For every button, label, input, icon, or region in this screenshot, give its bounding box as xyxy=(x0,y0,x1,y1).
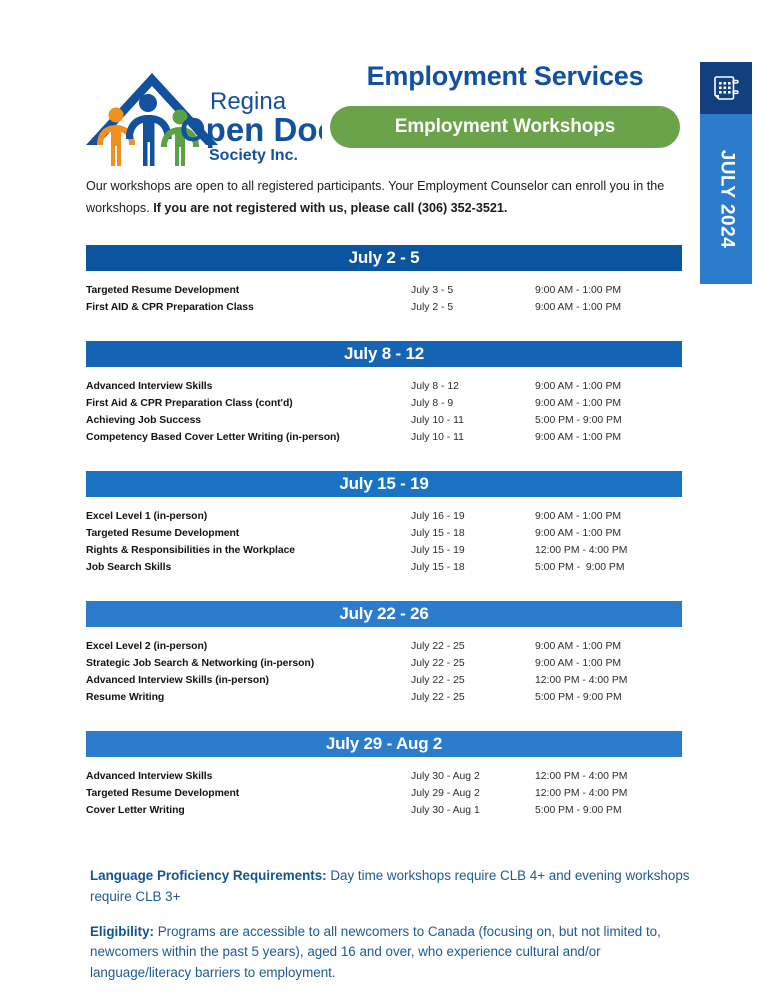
week-spacer xyxy=(86,579,682,601)
workshop-title: Targeted Resume Development xyxy=(86,528,411,539)
workshop-title: Cover Letter Writing xyxy=(86,805,411,816)
workshop-time: 12:00 PM - 4:00 PM xyxy=(535,545,682,556)
workshop-row: Resume WritingJuly 22 - 255:00 PM - 9:00… xyxy=(86,692,682,709)
workshop-row: First AID & CPR Preparation ClassJuly 2 … xyxy=(86,302,682,319)
regina-open-door-society-logo: Regina Open Door Society Inc. xyxy=(72,55,322,167)
logo-text-opendoor: Open Door xyxy=(180,111,322,148)
workshop-title: Excel Level 1 (in-person) xyxy=(86,511,411,522)
week-block: July 15 - 19Excel Level 1 (in-person)Jul… xyxy=(86,471,682,579)
workshop-row: Strategic Job Search & Networking (in-pe… xyxy=(86,658,682,675)
workshop-row: Targeted Resume DevelopmentJuly 15 - 189… xyxy=(86,528,682,545)
page-header: Regina Open Door Society Inc. Employment… xyxy=(0,0,772,172)
workshop-title: Job Search Skills xyxy=(86,562,411,573)
flyer-page: Regina Open Door Society Inc. Employment… xyxy=(0,0,772,1000)
intro-text-bold: If you are not registered with us, pleas… xyxy=(153,201,507,215)
subtitle-pill: Employment Workshops xyxy=(330,106,680,148)
workshop-title: Advanced Interview Skills (in-person) xyxy=(86,675,411,686)
workshop-row: Excel Level 1 (in-person)July 16 - 199:0… xyxy=(86,511,682,528)
footer-notes: Language Proficiency Requirements: Day t… xyxy=(90,866,690,998)
workshop-time: 5:00 PM - 9:00 PM xyxy=(535,415,682,426)
workshop-date: July 10 - 11 xyxy=(411,415,535,426)
workshop-row: Excel Level 2 (in-person)July 22 - 259:0… xyxy=(86,641,682,658)
footer-note-body: Programs are accessible to all newcomers… xyxy=(90,924,661,981)
workshop-time: 12:00 PM - 4:00 PM xyxy=(535,675,682,686)
workshop-date: July 15 - 18 xyxy=(411,528,535,539)
workshop-title: Excel Level 2 (in-person) xyxy=(86,641,411,652)
week-rows: Targeted Resume DevelopmentJuly 3 - 59:0… xyxy=(86,271,682,319)
calendar-icon-svg xyxy=(711,73,741,103)
workshop-row: Job Search SkillsJuly 15 - 185:00 PM - 9… xyxy=(86,562,682,579)
workshop-date: July 8 - 9 xyxy=(411,398,535,409)
week-heading: July 8 - 12 xyxy=(86,341,682,367)
workshop-time: 9:00 AM - 1:00 PM xyxy=(535,398,682,409)
week-spacer xyxy=(86,449,682,471)
workshop-date: July 3 - 5 xyxy=(411,285,535,296)
workshop-date: July 29 - Aug 2 xyxy=(411,788,535,799)
workshop-time: 9:00 AM - 1:00 PM xyxy=(535,641,682,652)
workshop-row: Achieving Job SuccessJuly 10 - 115:00 PM… xyxy=(86,415,682,432)
workshop-time: 9:00 AM - 1:00 PM xyxy=(535,302,682,313)
month-banner-label: JULY 2024 xyxy=(700,114,752,284)
workshop-time: 9:00 AM - 1:00 PM xyxy=(535,511,682,522)
workshop-title: Achieving Job Success xyxy=(86,415,411,426)
workshop-title: Advanced Interview Skills xyxy=(86,771,411,782)
week-block: July 22 - 26Excel Level 2 (in-person)Jul… xyxy=(86,601,682,709)
logo-svg: Regina Open Door Society Inc. xyxy=(72,55,322,167)
workshop-date: July 15 - 19 xyxy=(411,545,535,556)
intro-paragraph: Our workshops are open to all registered… xyxy=(86,176,682,219)
workshop-date: July 16 - 19 xyxy=(411,511,535,522)
workshop-row: Competency Based Cover Letter Writing (i… xyxy=(86,432,682,449)
workshop-title: Targeted Resume Development xyxy=(86,788,411,799)
workshop-time: 12:00 PM - 4:00 PM xyxy=(535,771,682,782)
week-block: July 2 - 5Targeted Resume DevelopmentJul… xyxy=(86,245,682,319)
workshop-time: 5:00 PM - 9:00 PM xyxy=(535,805,682,816)
workshop-row: Advanced Interview SkillsJuly 8 - 129:00… xyxy=(86,381,682,398)
workshop-title: Rights & Responsibilities in the Workpla… xyxy=(86,545,411,556)
workshop-title: Resume Writing xyxy=(86,692,411,703)
workshop-title: First Aid & CPR Preparation Class (cont'… xyxy=(86,398,411,409)
logo-text-society: Society Inc. xyxy=(209,147,298,164)
workshop-row: First Aid & CPR Preparation Class (cont'… xyxy=(86,398,682,415)
workshop-date: July 22 - 25 xyxy=(411,658,535,669)
workshop-title: Targeted Resume Development xyxy=(86,285,411,296)
workshop-time: 9:00 AM - 1:00 PM xyxy=(535,658,682,669)
footer-note-label: Eligibility: xyxy=(90,924,154,939)
workshop-title: Advanced Interview Skills xyxy=(86,381,411,392)
week-block: July 8 - 12Advanced Interview SkillsJuly… xyxy=(86,341,682,449)
week-rows: Advanced Interview SkillsJuly 8 - 129:00… xyxy=(86,367,682,449)
workshop-date: July 22 - 25 xyxy=(411,692,535,703)
workshop-time: 5:00 PM - 9:00 PM xyxy=(535,692,682,703)
workshop-date: July 8 - 12 xyxy=(411,381,535,392)
workshop-date: July 22 - 25 xyxy=(411,641,535,652)
workshop-row: Rights & Responsibilities in the Workpla… xyxy=(86,545,682,562)
workshop-row: Advanced Interview SkillsJuly 30 - Aug 2… xyxy=(86,771,682,788)
workshop-title: Competency Based Cover Letter Writing (i… xyxy=(86,432,411,443)
workshop-time: 9:00 AM - 1:00 PM xyxy=(535,528,682,539)
schedule: July 2 - 5Targeted Resume DevelopmentJul… xyxy=(86,245,682,822)
workshop-row: Advanced Interview Skills (in-person)Jul… xyxy=(86,675,682,692)
footer-note-label: Language Proficiency Requirements: xyxy=(90,868,327,883)
workshop-time: 9:00 AM - 1:00 PM xyxy=(535,432,682,443)
workshop-row: Targeted Resume DevelopmentJuly 29 - Aug… xyxy=(86,788,682,805)
workshop-title: Strategic Job Search & Networking (in-pe… xyxy=(86,658,411,669)
workshop-title: First AID & CPR Preparation Class xyxy=(86,302,411,313)
workshop-date: July 30 - Aug 2 xyxy=(411,771,535,782)
workshop-date: July 30 - Aug 1 xyxy=(411,805,535,816)
workshop-row: Cover Letter WritingJuly 30 - Aug 15:00 … xyxy=(86,805,682,822)
week-heading: July 22 - 26 xyxy=(86,601,682,627)
workshop-row: Targeted Resume DevelopmentJuly 3 - 59:0… xyxy=(86,285,682,302)
footer-note: Eligibility: Programs are accessible to … xyxy=(90,922,690,984)
footer-note: Language Proficiency Requirements: Day t… xyxy=(90,866,690,908)
workshop-date: July 15 - 18 xyxy=(411,562,535,573)
week-block: July 29 - Aug 2Advanced Interview Skills… xyxy=(86,731,682,822)
calendar-icon xyxy=(700,62,752,114)
week-heading: July 2 - 5 xyxy=(86,245,682,271)
week-spacer xyxy=(86,319,682,341)
week-spacer xyxy=(86,709,682,731)
workshop-time: 9:00 AM - 1:00 PM xyxy=(535,381,682,392)
week-rows: Advanced Interview SkillsJuly 30 - Aug 2… xyxy=(86,757,682,822)
workshop-time: 5:00 PM - 9:00 PM xyxy=(535,562,682,573)
page-title: Employment Services xyxy=(330,62,680,92)
workshop-date: July 22 - 25 xyxy=(411,675,535,686)
month-banner-text: JULY 2024 xyxy=(715,150,737,249)
week-rows: Excel Level 1 (in-person)July 16 - 199:0… xyxy=(86,497,682,579)
workshop-time: 9:00 AM - 1:00 PM xyxy=(535,285,682,296)
month-banner: JULY 2024 xyxy=(700,62,752,284)
title-block: Employment Services Employment Workshops xyxy=(330,62,680,148)
week-heading: July 15 - 19 xyxy=(86,471,682,497)
workshop-time: 12:00 PM - 4:00 PM xyxy=(535,788,682,799)
week-rows: Excel Level 2 (in-person)July 22 - 259:0… xyxy=(86,627,682,709)
workshop-date: July 2 - 5 xyxy=(411,302,535,313)
workshop-date: July 10 - 11 xyxy=(411,432,535,443)
week-heading: July 29 - Aug 2 xyxy=(86,731,682,757)
